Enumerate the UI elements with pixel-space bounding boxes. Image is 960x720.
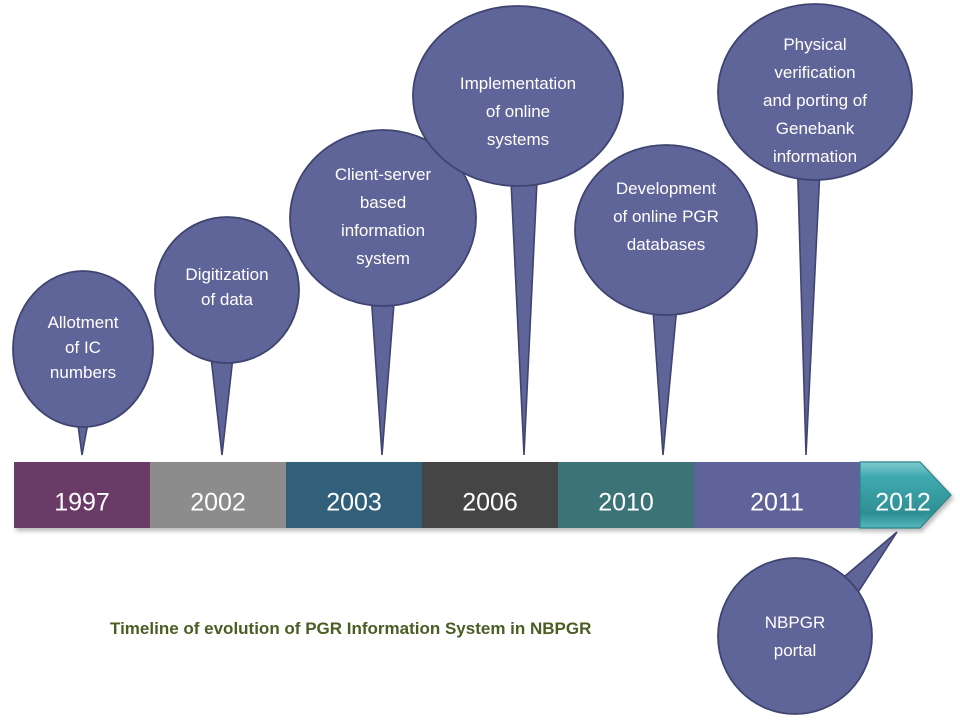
callout-line: of data	[201, 290, 254, 309]
callout-line: Genebank	[776, 119, 855, 138]
callout-2002[interactable]: Digitization of data	[155, 217, 299, 455]
segment-year-label: 2012	[875, 489, 931, 517]
timeline-segment-2006[interactable]: 2006	[422, 462, 558, 528]
callout-line: databases	[627, 235, 705, 254]
callout-line: information	[341, 221, 425, 240]
callout-2010[interactable]: Development of online PGR databases	[575, 145, 757, 455]
callout-line: portal	[774, 641, 817, 660]
callout-1997[interactable]: Allotment of IC numbers	[13, 271, 153, 455]
callout-line: Implementation	[460, 74, 576, 93]
timeline-segment-2012[interactable]: 2012	[860, 462, 951, 528]
callout-2012[interactable]: NBPGR portal	[718, 532, 897, 714]
timeline-segment-2002[interactable]: 2002	[150, 462, 286, 528]
timeline-bar: 1997 2002 2003 2006 2010	[14, 462, 951, 528]
callout-line: Allotment	[48, 313, 119, 332]
callout-line: Development	[616, 179, 716, 198]
callout-tail-2010	[652, 295, 678, 455]
callout-line: verification	[774, 63, 855, 82]
callout-bubble-2006	[413, 6, 623, 186]
callout-line: and porting of	[763, 91, 867, 110]
segment-year-label: 2002	[190, 489, 246, 517]
callout-line: numbers	[50, 363, 116, 382]
segment-year-label: 2003	[326, 489, 382, 517]
callout-bubble-2012	[718, 558, 872, 714]
callout-line: systems	[487, 130, 549, 149]
callout-line: NBPGR	[765, 613, 825, 632]
callout-2003[interactable]: Client-server based information system	[290, 130, 476, 455]
timeline-segment-2003[interactable]: 2003	[286, 462, 422, 528]
callout-line: Physical	[783, 35, 846, 54]
callout-line: information	[773, 147, 857, 166]
callout-line: system	[356, 249, 410, 268]
segment-year-label: 2011	[750, 489, 804, 517]
callout-tail-2006	[510, 160, 538, 455]
callout-line: based	[360, 193, 406, 212]
callout-line: of IC	[65, 338, 101, 357]
segment-year-label: 1997	[54, 489, 110, 517]
callout-line: of online	[486, 102, 550, 121]
diagram-caption: Timeline of evolution of PGR Information…	[110, 619, 591, 638]
callout-bubble-2010	[575, 145, 757, 315]
segment-year-label: 2010	[598, 489, 654, 517]
diagram-canvas: 1997 2002 2003 2006 2010	[0, 0, 960, 720]
callout-line: Client-server	[335, 165, 432, 184]
timeline-segment-1997[interactable]: 1997	[14, 462, 150, 528]
callout-line: of online PGR	[613, 207, 719, 226]
callout-tail-2011	[797, 148, 821, 455]
timeline-segment-2011[interactable]: 2011	[694, 462, 860, 528]
segment-year-label: 2006	[462, 489, 518, 517]
callout-line: Digitization	[185, 265, 268, 284]
timeline-segment-2010[interactable]: 2010	[558, 462, 694, 528]
timeline-diagram: 1997 2002 2003 2006 2010	[0, 0, 960, 720]
